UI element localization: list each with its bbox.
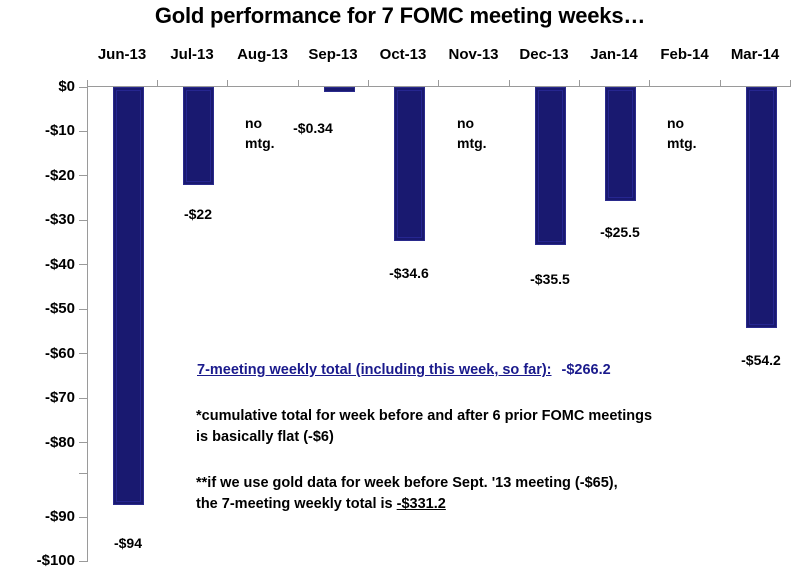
y-axis-label-20: -$20 — [5, 167, 75, 184]
y-axis-label-70: -$70 — [5, 389, 75, 406]
x-axis-category-dec-13: Dec-13 — [509, 46, 579, 63]
x-axis-tick — [368, 80, 369, 87]
value-label-jan-14: -$25.5 — [585, 224, 655, 240]
x-axis-tick — [649, 80, 650, 87]
value-label-dec-13: -$35.5 — [515, 271, 585, 287]
x-axis-tick — [157, 80, 158, 87]
x-axis-tick — [579, 80, 580, 87]
no-meeting-label-feb-14: no mtg. — [667, 113, 697, 153]
annotation-weekly-total: 7-meeting weekly total (including this w… — [197, 362, 611, 378]
value-label-sep-13: -$0.34 — [268, 120, 358, 136]
x-axis-category-jul-13: Jul-13 — [157, 46, 227, 63]
y-axis-tick — [79, 442, 88, 443]
bar-inner-highlight — [608, 90, 633, 198]
y-axis-tick — [79, 561, 88, 562]
x-axis-tick — [509, 80, 510, 87]
bar-jan-14[interactable] — [605, 87, 636, 201]
annotation-footnote-2-value: -$331.2 — [397, 496, 446, 512]
annotation-footnote-2: **if we use gold data for week before Se… — [196, 473, 618, 515]
y-axis-label-90: -$90 — [5, 508, 75, 525]
x-axis-tick — [87, 80, 88, 87]
y-axis-tick — [79, 264, 88, 265]
annotation-footnote-2-line1: **if we use gold data for week before Se… — [196, 475, 618, 491]
y-axis-tick — [79, 517, 88, 518]
bar-sep-13[interactable] — [324, 87, 355, 92]
annotation-weekly-total-value: -$266.2 — [562, 362, 611, 378]
bar-inner-highlight — [538, 90, 563, 242]
y-axis-label-10: -$10 — [5, 122, 75, 139]
value-label-jul-13: -$22 — [163, 206, 233, 222]
y-axis-tick — [79, 309, 88, 310]
y-axis-tick — [79, 175, 88, 176]
bar-mar-14[interactable] — [746, 87, 777, 328]
x-axis-category-mar-14: Mar-14 — [720, 46, 790, 63]
annotation-footnote-2-line2-prefix: the 7-meeting weekly total is — [196, 496, 397, 512]
x-axis-category-nov-13: Nov-13 — [438, 46, 509, 63]
x-axis-tick — [438, 80, 439, 87]
x-axis-tick — [298, 80, 299, 87]
y-axis-tick — [79, 131, 88, 132]
annotation-footnote-1: *cumulative total for week before and af… — [196, 406, 652, 448]
bar-inner-highlight — [749, 90, 774, 325]
bar-oct-13[interactable] — [394, 87, 425, 241]
x-axis-category-sep-13: Sep-13 — [298, 46, 368, 63]
x-axis-tick — [227, 80, 228, 87]
x-axis-category-aug-13: Aug-13 — [227, 46, 298, 63]
value-label-oct-13: -$34.6 — [374, 265, 444, 281]
x-axis-category-feb-14: Feb-14 — [649, 46, 720, 63]
annotation-weekly-total-text: 7-meeting weekly total (including this w… — [197, 362, 552, 378]
value-label-mar-14: -$54.2 — [726, 352, 796, 368]
y-axis-label-80: -$80 — [5, 434, 75, 451]
x-axis-category-jun-13: Jun-13 — [87, 46, 157, 63]
y-axis-label-100: -$100 — [5, 552, 75, 569]
x-axis-tick — [720, 80, 721, 87]
y-axis-label-0: $0 — [5, 78, 75, 95]
y-axis-label-60: -$60 — [5, 345, 75, 362]
y-axis-tick — [79, 220, 88, 221]
bar-jun-13[interactable] — [113, 87, 144, 505]
x-axis-tick — [790, 80, 791, 87]
x-axis-category-oct-13: Oct-13 — [368, 46, 438, 63]
x-axis-category-jan-14: Jan-14 — [579, 46, 649, 63]
value-label-jun-13: -$94 — [93, 535, 163, 551]
no-meeting-label-aug-13: no mtg. — [245, 113, 275, 153]
no-meeting-label-nov-13: no mtg. — [457, 113, 487, 153]
y-axis-label-50: -$50 — [5, 300, 75, 317]
y-axis-tick — [79, 473, 88, 474]
y-axis-tick — [79, 353, 88, 354]
bar-jul-13[interactable] — [183, 87, 214, 185]
y-axis-label-40: -$40 — [5, 256, 75, 273]
y-axis-tick — [79, 398, 88, 399]
bar-inner-highlight — [397, 90, 422, 238]
y-axis-label-30: -$30 — [5, 211, 75, 228]
bar-inner-highlight — [186, 90, 211, 182]
y-axis-tick — [79, 87, 88, 88]
y-axis-line — [87, 87, 88, 562]
bar-inner-highlight — [116, 90, 141, 502]
bar-dec-13[interactable] — [535, 87, 566, 245]
